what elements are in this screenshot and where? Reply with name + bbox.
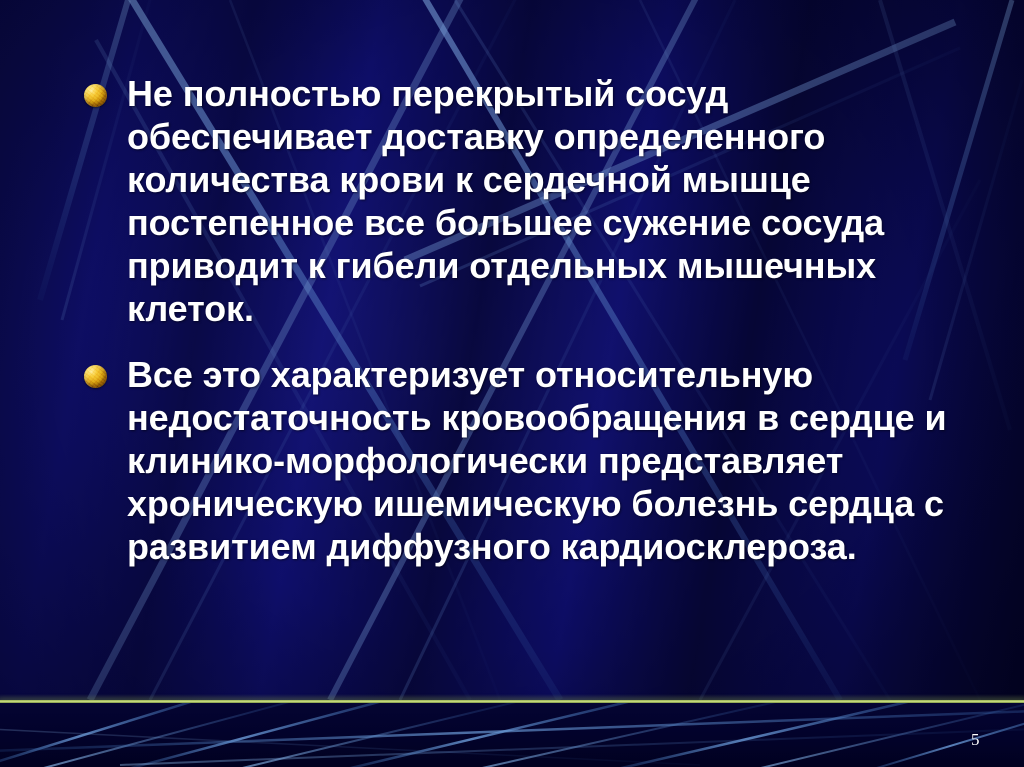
bullet-text: Не полностью перекрытый сосуд обеспечива… [127, 72, 964, 330]
bullet-text: Все это характеризует относительную недо… [127, 353, 964, 568]
bullet-item: Не полностью перекрытый сосуд обеспечива… [84, 72, 964, 330]
presentation-slide: Не полностью перекрытый сосуд обеспечива… [0, 0, 1024, 767]
bullet-item: Все это характеризует относительную недо… [84, 353, 964, 568]
gold-sphere-bullet-icon [84, 84, 107, 107]
footer-decorative-lines [0, 703, 1024, 767]
page-number: 5 [971, 730, 980, 750]
gold-sphere-bullet-icon [84, 365, 107, 388]
footer-band [0, 703, 1024, 767]
